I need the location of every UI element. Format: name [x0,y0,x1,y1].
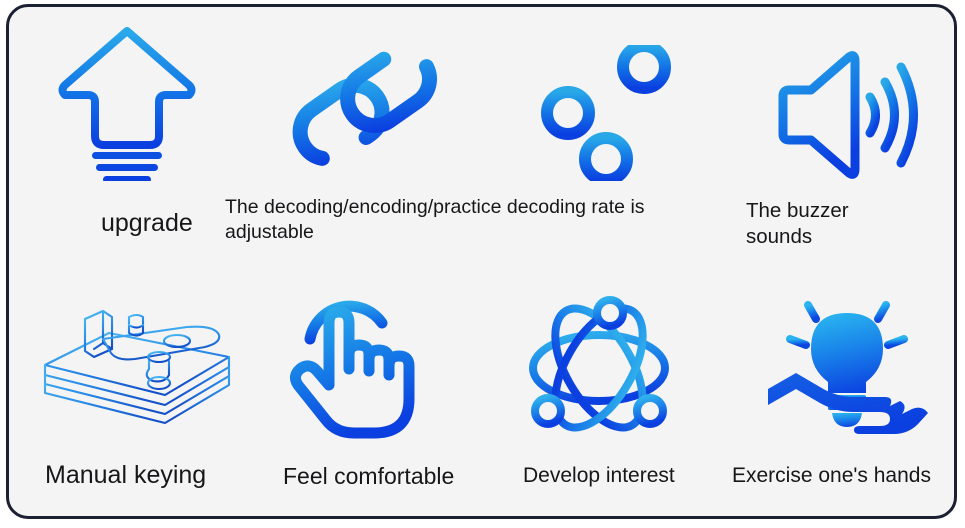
sliders-icon [517,21,693,181]
feature-label-adjustable-rate: The decoding/encoding/practice decoding … [225,195,685,245]
feature-label-manual-keying: Manual keying [45,459,275,491]
feature-label-develop-interest: Develop interest [523,463,743,490]
feature-panel: upgrade The decoding/encoding/practice d… [6,4,957,519]
chain-link-icon [271,21,457,181]
feature-grid: upgrade The decoding/encoding/practice d… [9,7,954,516]
feature-label-buzzer: The buzzer sounds [746,198,946,250]
tap-hand-icon [281,283,433,441]
atom-icon [521,287,677,443]
feature-label-feel-comfortable: Feel comfortable [283,462,513,491]
upgrade-arrow-icon [47,21,207,181]
lightbulb-in-hand-icon [759,281,935,443]
feature-label-upgrade: upgrade [101,207,241,239]
speaker-icon [765,21,931,181]
feature-label-exercise-hands: Exercise one's hands [732,463,957,490]
telegraph-key-icon [29,289,245,439]
